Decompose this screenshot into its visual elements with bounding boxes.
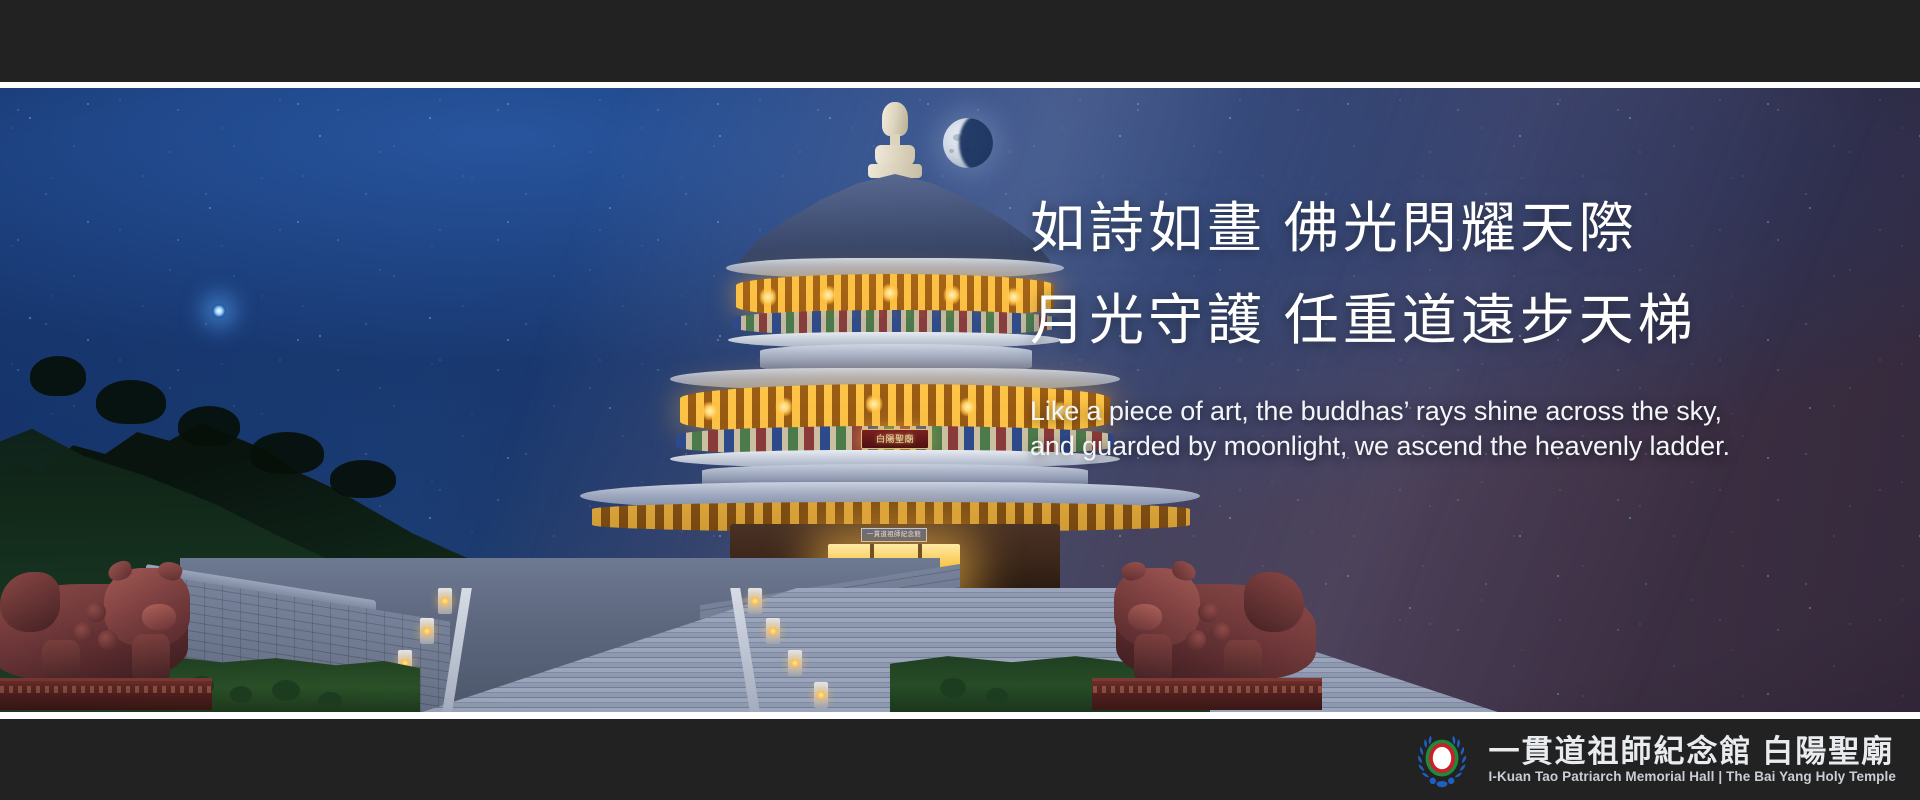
letterbox-bar-top: [0, 0, 1920, 82]
temple-entrance-plaque: 一貫道祖師紀念館: [861, 528, 927, 542]
tree-cluster: [250, 432, 324, 474]
roof-finial-knob: [882, 102, 908, 136]
temple-upper-plaque: 白陽聖廟: [861, 429, 929, 449]
tree-cluster: [178, 406, 240, 446]
footer-brand-lockup[interactable]: 一貫道祖師紀念館 白陽聖廟 I-Kuan Tao Patriarch Memor…: [1411, 719, 1896, 800]
stair-lamp: [748, 588, 762, 614]
stair-lamp: [814, 682, 828, 708]
headline-chinese-line-2: 月光守護 任重道遠步天梯: [1030, 282, 1860, 360]
stair-lamp: [788, 650, 802, 676]
shrub: [318, 692, 342, 710]
stair-lamp: [420, 618, 434, 644]
stair-lamp: [438, 588, 452, 614]
divider-rule-bottom: [0, 712, 1920, 719]
shrub: [272, 680, 300, 701]
headline-english-line-1: Like a piece of art, the buddhas’ rays s…: [1030, 394, 1860, 429]
shrub: [230, 686, 252, 703]
tree-cluster: [30, 356, 86, 396]
footer-brand-name-english: I-Kuan Tao Patriarch Memorial Hall | The…: [1489, 770, 1896, 784]
shrub: [940, 678, 966, 698]
tree-cluster: [96, 380, 166, 424]
headline-english-line-2: and guarded by moonlight, we ascend the …: [1030, 429, 1860, 464]
divider-rule-top: [0, 82, 1920, 88]
ikuan-tao-emblem-icon: [1411, 729, 1473, 791]
stair-lamp: [766, 618, 780, 644]
headline-copy-block: 如詩如畫 佛光閃耀天際 月光守護 任重道遠步天梯 Like a piece of…: [1030, 190, 1860, 464]
footer-brand-name-chinese: 一貫道祖師紀念館 白陽聖廟: [1489, 736, 1895, 767]
guardian-lion-left: [0, 560, 212, 710]
shrub: [986, 688, 1008, 705]
footer-brand-text: 一貫道祖師紀念館 白陽聖廟 I-Kuan Tao Patriarch Memor…: [1489, 736, 1896, 784]
headline-chinese-line-1: 如詩如畫 佛光閃耀天際: [1030, 190, 1860, 268]
banner-stage: 白陽聖廟 一貫道祖師紀念館: [0, 0, 1920, 800]
headline-english-block: Like a piece of art, the buddhas’ rays s…: [1030, 394, 1860, 464]
guardian-lion-right: [1092, 560, 1322, 710]
bright-blue-star: [212, 304, 226, 318]
